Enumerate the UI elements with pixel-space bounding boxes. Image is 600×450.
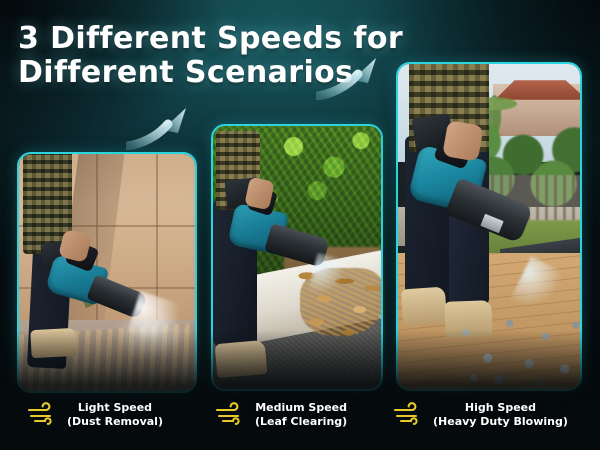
caption-high-speed: High Speed (Heavy Duty Blowing)	[392, 401, 588, 429]
operator-arm	[442, 120, 484, 162]
wind-icon	[26, 402, 60, 428]
wind-icon	[392, 402, 426, 428]
bottom-fade-overlay	[0, 330, 600, 450]
infographic-stage: 3 Different Speeds for Different Scenari…	[0, 0, 600, 450]
caption-light-speed: Light Speed (Dust Removal)	[26, 401, 196, 429]
page-title: 3 Different Speeds for Different Scenari…	[18, 22, 418, 90]
caption-text: Medium Speed (Leaf Clearing)	[255, 401, 347, 429]
caption-text: Light Speed (Dust Removal)	[67, 401, 163, 429]
caption-medium-speed: Medium Speed (Leaf Clearing)	[214, 401, 382, 429]
wind-icon	[214, 402, 248, 428]
operator-boot	[400, 287, 446, 326]
caption-text: High Speed (Heavy Duty Blowing)	[433, 401, 568, 429]
